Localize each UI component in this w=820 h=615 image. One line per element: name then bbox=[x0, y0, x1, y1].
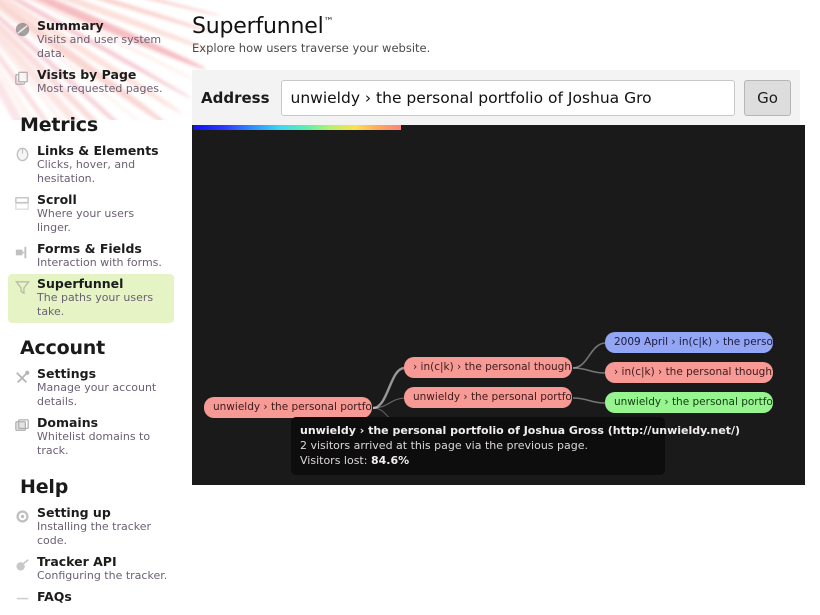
tooltip-lost-label: Visitors lost: bbox=[300, 454, 367, 467]
nav-group-title-account: Account bbox=[20, 337, 188, 359]
sidebar-item-settings[interactable]: SettingsManage your account details. bbox=[8, 364, 174, 413]
api-icon bbox=[13, 556, 32, 575]
sidebar-item-summary[interactable]: SummaryVisits and user system data. bbox=[8, 16, 174, 65]
address-bar: Address Go bbox=[192, 70, 800, 125]
funnel-node[interactable]: › in(c|k) › the personal thoughts of Jo… bbox=[605, 362, 773, 383]
funnel-node-label: unwieldy › the personal portfolio of … bbox=[213, 401, 372, 413]
sidebar-item-tracker-api[interactable]: Tracker APIConfiguring the tracker. bbox=[8, 552, 174, 587]
go-button[interactable]: Go bbox=[744, 80, 791, 116]
sidebar-item-label: Settings bbox=[37, 367, 170, 381]
funnel-node[interactable]: unwieldy › the personal portfolio of … bbox=[605, 392, 773, 413]
sidebar-item-description: Configuring the tracker. bbox=[37, 569, 170, 583]
tooltip-visitors: 2 visitors arrived at this page via the … bbox=[300, 438, 656, 453]
sidebar-item-description: Whitelist domains to track. bbox=[37, 430, 170, 458]
form-icon bbox=[13, 243, 32, 262]
page-title-text: Superfunnel bbox=[192, 14, 323, 39]
tools-icon bbox=[13, 368, 32, 387]
globe-icon bbox=[13, 20, 32, 39]
sidebar-item-domains[interactable]: DomainsWhitelist domains to track. bbox=[8, 413, 174, 462]
sidebar-item-label: Scroll bbox=[37, 193, 170, 207]
sidebar-item-forms-fields[interactable]: Forms & FieldsInteraction with forms. bbox=[8, 239, 174, 274]
sidebar: SummaryVisits and user system data.Visit… bbox=[0, 0, 188, 485]
address-label: Address bbox=[201, 89, 270, 107]
nav-group-title-metrics: Metrics bbox=[20, 114, 188, 136]
trademark-mark: ™ bbox=[323, 17, 333, 28]
funnel-visualization[interactable]: unwieldy › the personal portfolio of …› … bbox=[192, 125, 805, 485]
funnel-node[interactable]: unwieldy › the personal portfolio of … bbox=[404, 387, 572, 408]
sidebar-item-label: Visits by Page bbox=[37, 68, 170, 82]
funnel-node[interactable]: › in(c|k) › the personal thoughts of Jo… bbox=[404, 357, 572, 378]
sidebar-item-description: The paths your users take. bbox=[37, 291, 170, 319]
sidebar-item-label: Setting up bbox=[37, 506, 170, 520]
monitor-icon bbox=[13, 417, 32, 436]
sidebar-item-label: Superfunnel bbox=[37, 277, 170, 291]
sidebar-item-superfunnel[interactable]: SuperfunnelThe paths your users take. bbox=[8, 274, 174, 323]
tooltip-title: unwieldy › the personal portfolio of Jos… bbox=[300, 423, 656, 438]
sidebar-item-visits-by-page[interactable]: Visits by PageMost requested pages. bbox=[8, 65, 174, 100]
sidebar-item-label: FAQs bbox=[37, 590, 170, 604]
sidebar-item-description: Most requested pages. bbox=[37, 82, 170, 96]
main-content: Superfunnel™ Explore how users traverse … bbox=[188, 0, 820, 485]
funnel-node-label: › in(c|k) › the personal thoughts of Jo… bbox=[413, 361, 572, 373]
scroll-icon bbox=[13, 194, 32, 213]
tooltip-lost: Visitors lost: 84.6% bbox=[300, 453, 656, 468]
sidebar-item-label: Tracker API bbox=[37, 555, 170, 569]
sidebar-item-description: Installing the tracker code. bbox=[37, 520, 170, 548]
page-subtitle: Explore how users traverse your website. bbox=[192, 41, 820, 55]
gear-icon bbox=[13, 507, 32, 526]
funnel-node[interactable]: unwieldy › the personal portfolio of … bbox=[204, 397, 372, 418]
sidebar-item-description: Interaction with forms. bbox=[37, 256, 170, 270]
funnel-node-label: 2009 April › in(c|k) › the personal tho… bbox=[614, 336, 773, 348]
funnel-node-label: unwieldy › the personal portfolio of … bbox=[614, 396, 773, 408]
sidebar-item-label: Links & Elements bbox=[37, 144, 170, 158]
sidebar-item-scroll[interactable]: ScrollWhere your users linger. bbox=[8, 190, 174, 239]
funnel-node-label: › in(c|k) › the personal thoughts of Jo… bbox=[614, 366, 773, 378]
mouse-icon bbox=[13, 145, 32, 164]
address-input[interactable] bbox=[281, 80, 735, 116]
sidebar-item-setting-up[interactable]: Setting upInstalling the tracker code. bbox=[8, 503, 174, 552]
funnel-icon bbox=[13, 278, 32, 297]
funnel-node-label: unwieldy › the personal portfolio of … bbox=[413, 391, 572, 403]
sidebar-item-faqs[interactable]: FAQs bbox=[8, 587, 174, 615]
sidebar-item-description: Clicks, hover, and hesitation. bbox=[37, 158, 170, 186]
funnel-tooltip: unwieldy › the personal portfolio of Jos… bbox=[291, 417, 665, 475]
sidebar-item-description: Where your users linger. bbox=[37, 207, 170, 235]
sidebar-item-label: Forms & Fields bbox=[37, 242, 170, 256]
faq-icon bbox=[13, 591, 32, 610]
sidebar-item-description: Visits and user system data. bbox=[37, 33, 170, 61]
nav-group-title-help: Help bbox=[20, 476, 188, 498]
sidebar-item-label: Summary bbox=[37, 19, 170, 33]
pages-icon bbox=[13, 69, 32, 88]
page-title: Superfunnel™ bbox=[192, 14, 820, 39]
tooltip-lost-value: 84.6% bbox=[371, 454, 409, 467]
funnel-node[interactable]: 2009 April › in(c|k) › the personal tho… bbox=[605, 332, 773, 353]
sidebar-item-description: Manage your account details. bbox=[37, 381, 170, 409]
sidebar-item-links-elements[interactable]: Links & ElementsClicks, hover, and hesit… bbox=[8, 141, 174, 190]
sidebar-item-label: Domains bbox=[37, 416, 170, 430]
